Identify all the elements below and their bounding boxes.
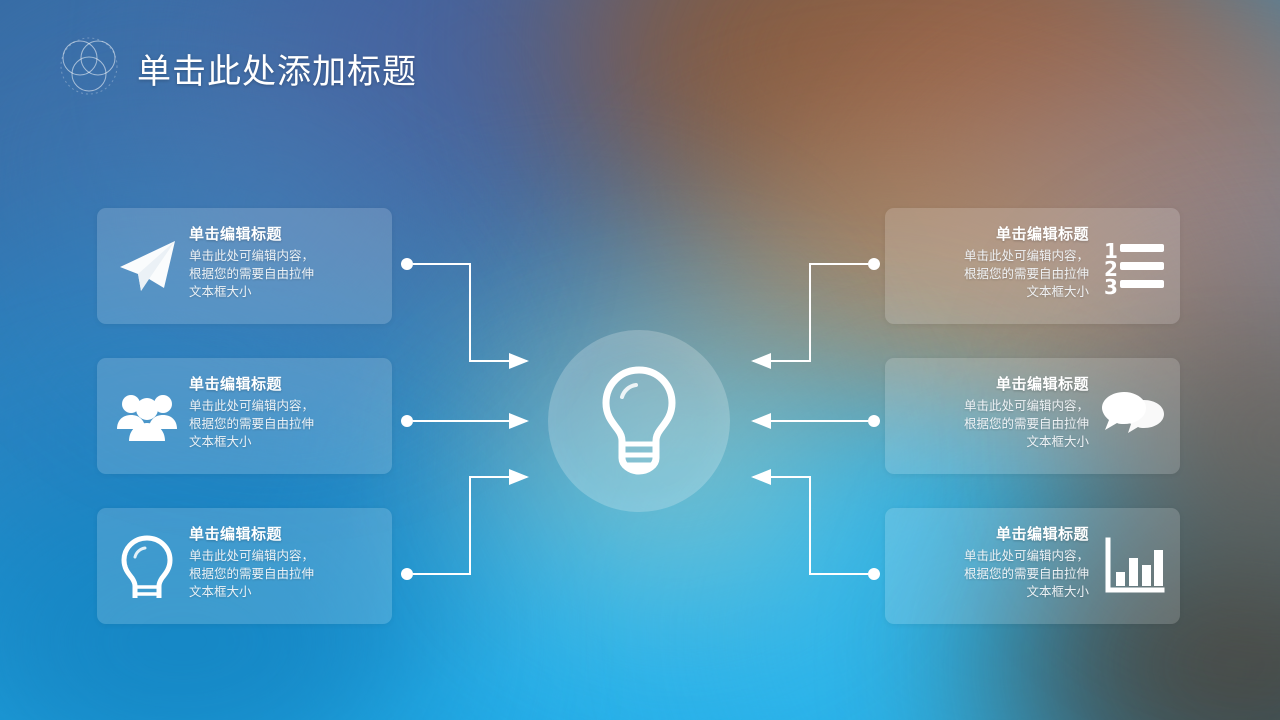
card-right-3[interactable]: 单击编辑标题 单击此处可编辑内容，根据您的需要自由拉伸文本框大小 <box>885 508 1180 624</box>
card-title: 单击编辑标题 <box>189 525 379 544</box>
svg-text:3: 3 <box>1104 275 1118 298</box>
card-left-3[interactable]: 单击编辑标题 单击此处可编辑内容，根据您的需要自由拉伸文本框大小 <box>97 508 392 624</box>
card-left-1[interactable]: 单击编辑标题 单击此处可编辑内容，根据您的需要自由拉伸文本框大小 <box>97 208 392 324</box>
card-body: 单击此处可编辑内容，根据您的需要自由拉伸文本框大小 <box>899 397 1089 451</box>
card-title: 单击编辑标题 <box>899 225 1089 244</box>
lightbulb-icon <box>591 364 687 478</box>
connector-right-3 <box>753 477 880 580</box>
card-body: 单击此处可编辑内容，根据您的需要自由拉伸文本框大小 <box>189 397 379 451</box>
connector-right-1 <box>753 258 880 361</box>
numbered-list-icon: 1 2 3 <box>1102 234 1166 298</box>
people-group-icon <box>115 384 179 448</box>
card-body: 单击此处可编辑内容，根据您的需要自由拉伸文本框大小 <box>189 547 379 601</box>
card-right-1[interactable]: 1 2 3 单击编辑标题 单击此处可编辑内容，根据您的需要自由拉伸文本框大小 <box>885 208 1180 324</box>
bar-chart-icon <box>1102 534 1166 598</box>
connector-left-3 <box>401 477 527 580</box>
connector-left-2 <box>401 415 527 427</box>
page-title: 单击此处添加标题 <box>137 44 417 93</box>
lightbulb-icon <box>115 534 179 598</box>
connector-right-2 <box>753 415 880 427</box>
card-right-2[interactable]: 单击编辑标题 单击此处可编辑内容，根据您的需要自由拉伸文本框大小 <box>885 358 1180 474</box>
card-left-2[interactable]: 单击编辑标题 单击此处可编辑内容，根据您的需要自由拉伸文本框大小 <box>97 358 392 474</box>
card-body: 单击此处可编辑内容，根据您的需要自由拉伸文本框大小 <box>899 247 1089 301</box>
center-hub <box>548 330 730 512</box>
card-title: 单击编辑标题 <box>189 375 379 394</box>
paper-plane-icon <box>115 234 179 298</box>
card-title: 单击编辑标题 <box>899 525 1089 544</box>
card-title: 单击编辑标题 <box>899 375 1089 394</box>
card-body: 单击此处可编辑内容，根据您的需要自由拉伸文本框大小 <box>899 547 1089 601</box>
venn-circles-icon <box>56 36 122 98</box>
card-body: 单击此处可编辑内容，根据您的需要自由拉伸文本框大小 <box>189 247 379 301</box>
card-title: 单击编辑标题 <box>189 225 379 244</box>
connector-left-1 <box>401 258 527 361</box>
speech-bubbles-icon <box>1102 384 1166 448</box>
